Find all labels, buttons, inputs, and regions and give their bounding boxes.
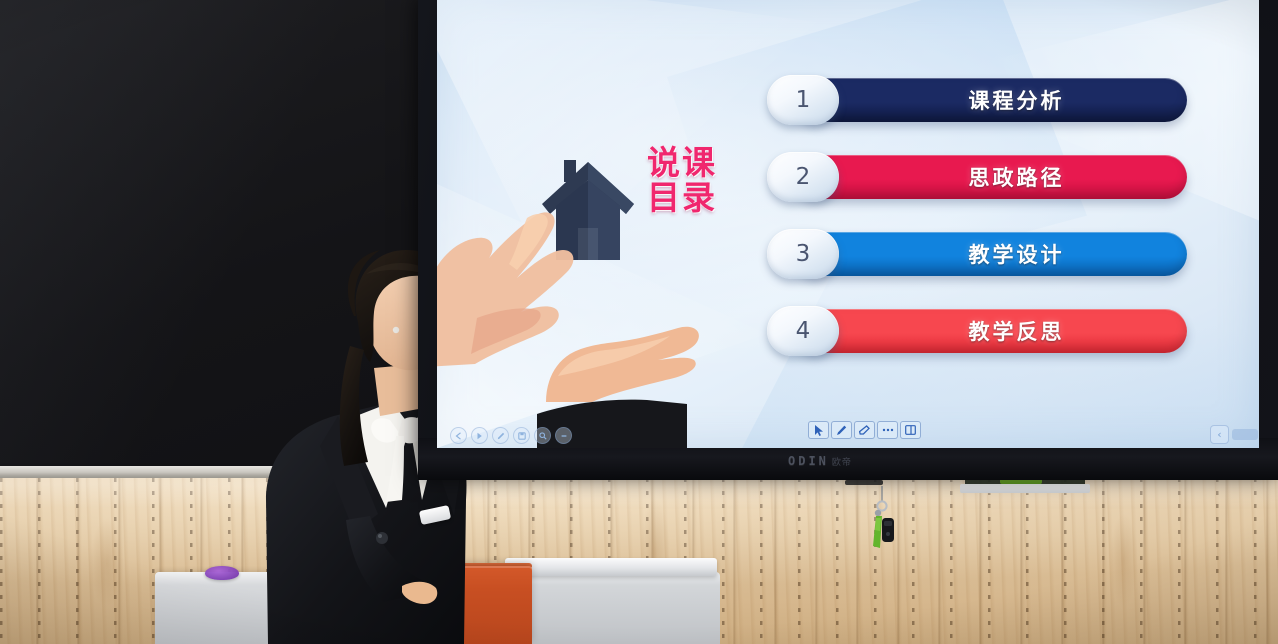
slide-screen[interactable]: 说课 目录 课程分析 1 思政路径 2: [437, 0, 1259, 448]
menu-bar-3: 教学设计: [794, 232, 1187, 276]
menu-number-3: 3: [767, 229, 839, 279]
classroom-scene: ODIN 欧帝 说课 目录: [0, 0, 1278, 644]
title-line-1: 说课: [627, 146, 737, 181]
pen-icon[interactable]: [831, 421, 852, 439]
display-brand-logo: ODIN 欧帝: [788, 454, 852, 468]
menu-bar-1: 课程分析: [794, 78, 1187, 122]
menu-item-2[interactable]: 思政路径 2: [767, 155, 1187, 204]
prev-slide-button[interactable]: ‹: [1210, 425, 1229, 444]
page-indicator: [1232, 429, 1258, 440]
slide-menu-list: 课程分析 1 思政路径 2 教学设计 3: [767, 78, 1187, 358]
brand-name-cn: 欧帝: [832, 455, 852, 468]
wood-knot: [1110, 513, 1138, 608]
menu-label-4: 教学反思: [794, 309, 1187, 353]
shelf-object-white: [960, 484, 1090, 493]
menu-item-3[interactable]: 教学设计 3: [767, 232, 1187, 281]
menu-number-2: 2: [767, 152, 839, 202]
menu-label-3: 教学设计: [794, 232, 1187, 276]
menu-label-1: 课程分析: [794, 78, 1187, 122]
menu-item-1[interactable]: 课程分析 1: [767, 78, 1187, 127]
brand-name: ODIN: [788, 454, 829, 468]
interactive-display: ODIN 欧帝 说课 目录: [418, 0, 1278, 480]
minimize-icon[interactable]: [555, 427, 572, 444]
search-icon[interactable]: [534, 427, 551, 444]
menu-bar-2: 思政路径: [794, 155, 1187, 199]
save-icon[interactable]: [513, 427, 530, 444]
purple-object: [205, 566, 239, 580]
select-cursor-icon[interactable]: [808, 421, 829, 439]
menu-bar-4: 教学反思: [794, 309, 1187, 353]
menu-label-2: 思政路径: [794, 155, 1187, 199]
title-line-2: 目录: [627, 181, 737, 216]
pen-icon[interactable]: [492, 427, 509, 444]
eraser-icon[interactable]: [854, 421, 875, 439]
menu-number-1: 1: [767, 75, 839, 125]
cable: [845, 480, 883, 485]
panel-icon[interactable]: [900, 421, 921, 439]
slide-page-nav[interactable]: ‹ ›: [1207, 424, 1259, 445]
play-icon[interactable]: [471, 427, 488, 444]
wood-knot: [90, 518, 124, 608]
hanging-keys: [862, 486, 902, 558]
menu-number-4: 4: [767, 306, 839, 356]
more-options-icon[interactable]: [877, 421, 898, 439]
menu-item-4[interactable]: 教学反思 4: [767, 309, 1187, 358]
annotation-toolbar[interactable]: [805, 420, 924, 440]
slide-title: 说课 目录: [627, 146, 737, 216]
back-icon[interactable]: [450, 427, 467, 444]
slide-quick-toolbar[interactable]: [447, 426, 575, 445]
